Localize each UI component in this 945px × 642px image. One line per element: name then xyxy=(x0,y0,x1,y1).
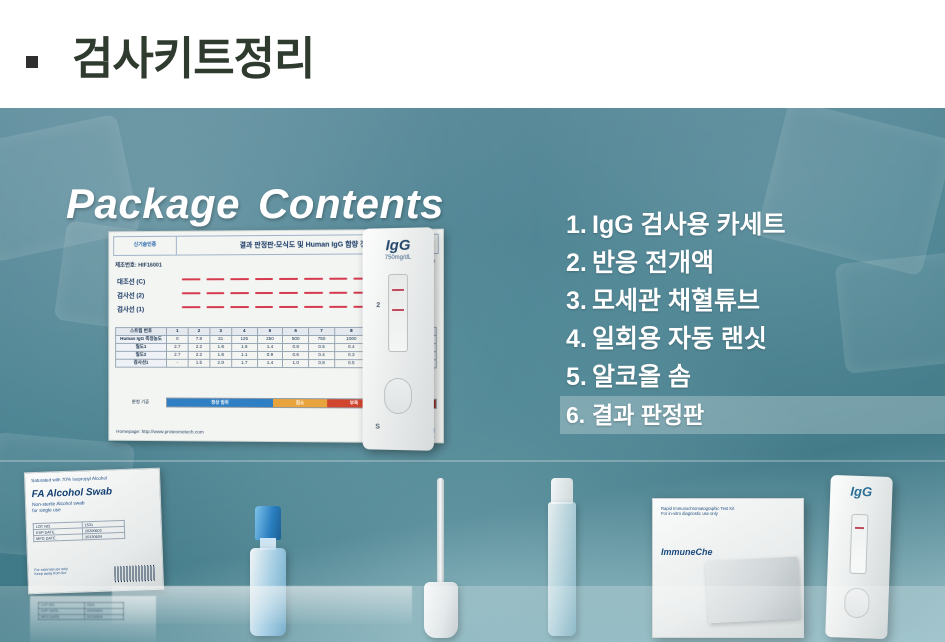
list-item-label: 반응 전개액 xyxy=(592,249,714,277)
bottle-cap xyxy=(255,506,281,540)
igg-test-cassette-large: IgG 750mg/dL 2 S xyxy=(363,227,434,451)
cassette-letter-marker: S xyxy=(375,424,380,431)
table-cell: MFG DATE. xyxy=(34,534,83,542)
page-title: 검사키트정리 xyxy=(72,22,314,87)
table-cell: 2.2 xyxy=(188,351,210,359)
heading-word-1: Package xyxy=(66,180,240,227)
table-cell: 500 xyxy=(283,335,309,343)
scale-segment: 정상 범위 xyxy=(167,398,273,407)
slide-title-bar: 검사키트정리 xyxy=(0,0,945,108)
strip-column xyxy=(327,273,350,317)
table-cell: 250 xyxy=(257,335,283,343)
table-cell: 0.8 xyxy=(283,344,309,352)
kit-box-brand: ImmuneChe xyxy=(661,547,713,557)
table-cell: 1.8 xyxy=(210,343,232,351)
strip-column xyxy=(180,273,202,317)
list-item-highlighted: 6.결과 판정판 xyxy=(560,396,945,434)
table-row: MFG DATE. 20130604 xyxy=(39,614,124,620)
list-item-label: IgG 검사용 카세트 xyxy=(592,211,786,239)
cassette-concentration-label: 750mg/dL xyxy=(363,254,434,261)
swab-info-table: LOT NO. 1531 EXP DATE. 20200603 MFG DATE… xyxy=(33,520,126,542)
table-cell: 750 xyxy=(309,335,335,343)
table-cell: - xyxy=(167,359,189,367)
table-cell: 1.5 xyxy=(188,359,210,367)
line-label: 검사선 (2) xyxy=(117,289,178,303)
swab-footer-text: For external use only Keep away from fir… xyxy=(34,567,68,578)
table-cell: 20130604 xyxy=(84,614,123,620)
table-column-header: 1 xyxy=(167,328,189,336)
cassette-sample-well xyxy=(384,378,412,414)
strip-column xyxy=(302,273,325,317)
table-cell: 2.7 xyxy=(167,351,189,359)
cassette-label: IgG xyxy=(830,483,892,500)
barcode-icon xyxy=(114,565,155,582)
list-item: 3.모세관 채혈튜브 xyxy=(560,282,945,320)
table-cell: 1.1 xyxy=(232,351,258,359)
kit-box-header-text: Rapid Immunochromatographic Test Kit For… xyxy=(661,506,734,517)
lancet-stem xyxy=(437,478,444,588)
square-bullet-icon xyxy=(26,56,38,68)
table-cell: 0.6 xyxy=(283,352,309,360)
card-lot-number: 제조번호: HIF16001 xyxy=(115,261,162,269)
table-cell: 0.8 xyxy=(309,360,335,368)
cassette-letter-marker: 2 xyxy=(376,302,380,309)
cassette-label: IgG xyxy=(363,236,434,254)
list-item: 5.알코올 솜 xyxy=(560,358,945,396)
table-cell: 1.7 xyxy=(232,359,258,367)
swab-subtitle: Non-sterile Alcohol swab for single use xyxy=(32,501,85,516)
table-row-label: 검사선1 xyxy=(116,359,167,367)
table-row-label: Human IgG 측정농도 xyxy=(116,336,167,344)
scale-segment: 감소 xyxy=(273,399,327,407)
table-cell: 0 xyxy=(167,336,189,344)
table-column-header: 5 xyxy=(257,327,283,335)
table-cell: MFG DATE. xyxy=(39,614,85,620)
line-label: 검사선 (1) xyxy=(117,303,178,317)
table-header-label: 스트립 번호 xyxy=(116,328,167,336)
list-item-label: 일회용 자동 랜싯 xyxy=(592,325,767,353)
list-item-number: 3. xyxy=(566,282,592,320)
table-row-label: 밀도1 xyxy=(116,343,167,351)
list-item-label: 알코올 솜 xyxy=(592,363,691,391)
table-row-label: 밀도2 xyxy=(116,351,167,359)
table-cell: 0.5 xyxy=(309,344,335,352)
strip-column xyxy=(277,273,300,317)
table-column-header: 3 xyxy=(210,328,232,336)
table-cell: 31 xyxy=(210,336,232,344)
table-cell: 1.4 xyxy=(257,359,283,367)
list-item-number: 4. xyxy=(566,320,592,358)
heading-word-2: Contents xyxy=(258,180,444,227)
list-item-number: 1. xyxy=(566,206,592,244)
scale-note: 판정 기준 xyxy=(115,397,166,407)
strip-column xyxy=(253,273,276,317)
table-cell: 20130604 xyxy=(82,532,124,539)
swab-reflection: LOT NO. 1531 EXP DATE. 20200603 MFG DATE… xyxy=(30,596,156,642)
result-line xyxy=(392,309,404,311)
list-item-label: 모세관 채혈튜브 xyxy=(592,287,760,315)
table-cell: 1.6 xyxy=(232,343,258,351)
reflected-info-table: LOT NO. 1531 EXP DATE. 20200603 MFG DATE… xyxy=(38,602,124,620)
cassette-result-window xyxy=(849,514,868,575)
result-line xyxy=(392,289,404,291)
line-label: 대조선 (C) xyxy=(117,275,178,289)
table-cell: 2.7 xyxy=(167,343,189,351)
result-line xyxy=(855,527,864,529)
list-item-number: 2. xyxy=(566,244,592,282)
list-item-number: 6. xyxy=(566,396,592,434)
list-item: 4.일회용 자동 랜싯 xyxy=(560,320,945,358)
contents-list: 1.IgG 검사용 카세트 2.반응 전개액 3.모세관 채혈튜브 4.일회용 … xyxy=(560,206,945,434)
list-item-number: 5. xyxy=(566,358,592,396)
table-cell: 1.0 xyxy=(283,360,309,368)
shelf-line xyxy=(0,460,945,462)
table-cell: 2.2 xyxy=(188,343,210,351)
card-reflection xyxy=(112,586,412,624)
table-cell: 125 xyxy=(232,336,258,344)
tube-cap xyxy=(551,478,573,504)
list-item-label: 결과 판정판 xyxy=(592,402,704,428)
certification-logo: 신기술인증 xyxy=(114,237,177,255)
table-cell: 1.8 xyxy=(210,351,232,359)
slide-image: PackageContents 1.IgG 검사용 카세트 2.반응 전개액 3… xyxy=(0,108,945,642)
table-cell: 0.9 xyxy=(257,351,283,359)
swab-product-title: FA Alcohol Swab xyxy=(32,486,113,500)
package-contents-heading: PackageContents xyxy=(66,180,444,228)
table-cell: 1.4 xyxy=(257,343,283,351)
table-cell: 7.8 xyxy=(188,336,210,344)
test-line-labels: 대조선 (C) 검사선 (2) 검사선 (1) xyxy=(117,275,178,317)
table-cell: 2.0 xyxy=(210,359,232,367)
strip-column xyxy=(204,273,226,317)
table-column-header: 2 xyxy=(188,328,210,336)
swab-top-line: Saturated with 70% Isopropyl Alcohol xyxy=(31,476,107,484)
table-column-header: 7 xyxy=(309,327,335,335)
table-column-header: 4 xyxy=(232,328,258,336)
card-homepage-text: Homepage: http://www.proteometech.com xyxy=(116,430,204,436)
table-cell: 0.4 xyxy=(309,352,335,360)
list-item: 1.IgG 검사용 카세트 xyxy=(560,206,945,244)
strip-column xyxy=(228,273,250,317)
table-column-header: 6 xyxy=(283,327,309,335)
alcohol-swab-packet: Saturated with 70% Isopropyl Alcohol FA … xyxy=(24,468,164,595)
list-item: 2.반응 전개액 xyxy=(560,244,945,282)
cassette-result-window xyxy=(388,274,408,352)
